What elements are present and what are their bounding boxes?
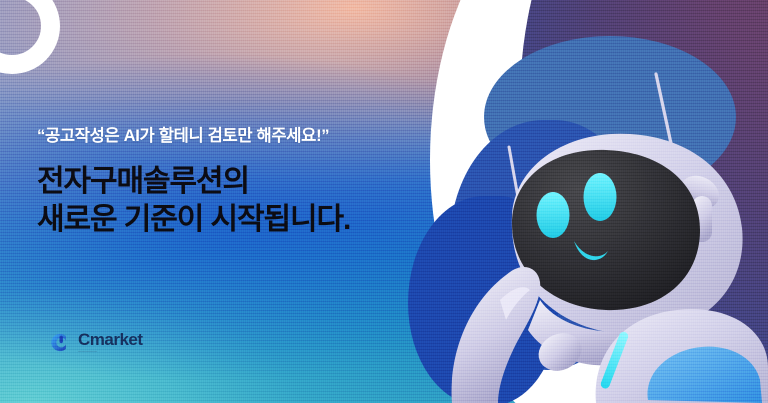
promo-banner: “공고작성은 AI가 할테니 검토만 해주세요!” 전자구매솔루션의 새로운 기…: [0, 0, 768, 403]
film-grain-overlay: [0, 0, 768, 403]
